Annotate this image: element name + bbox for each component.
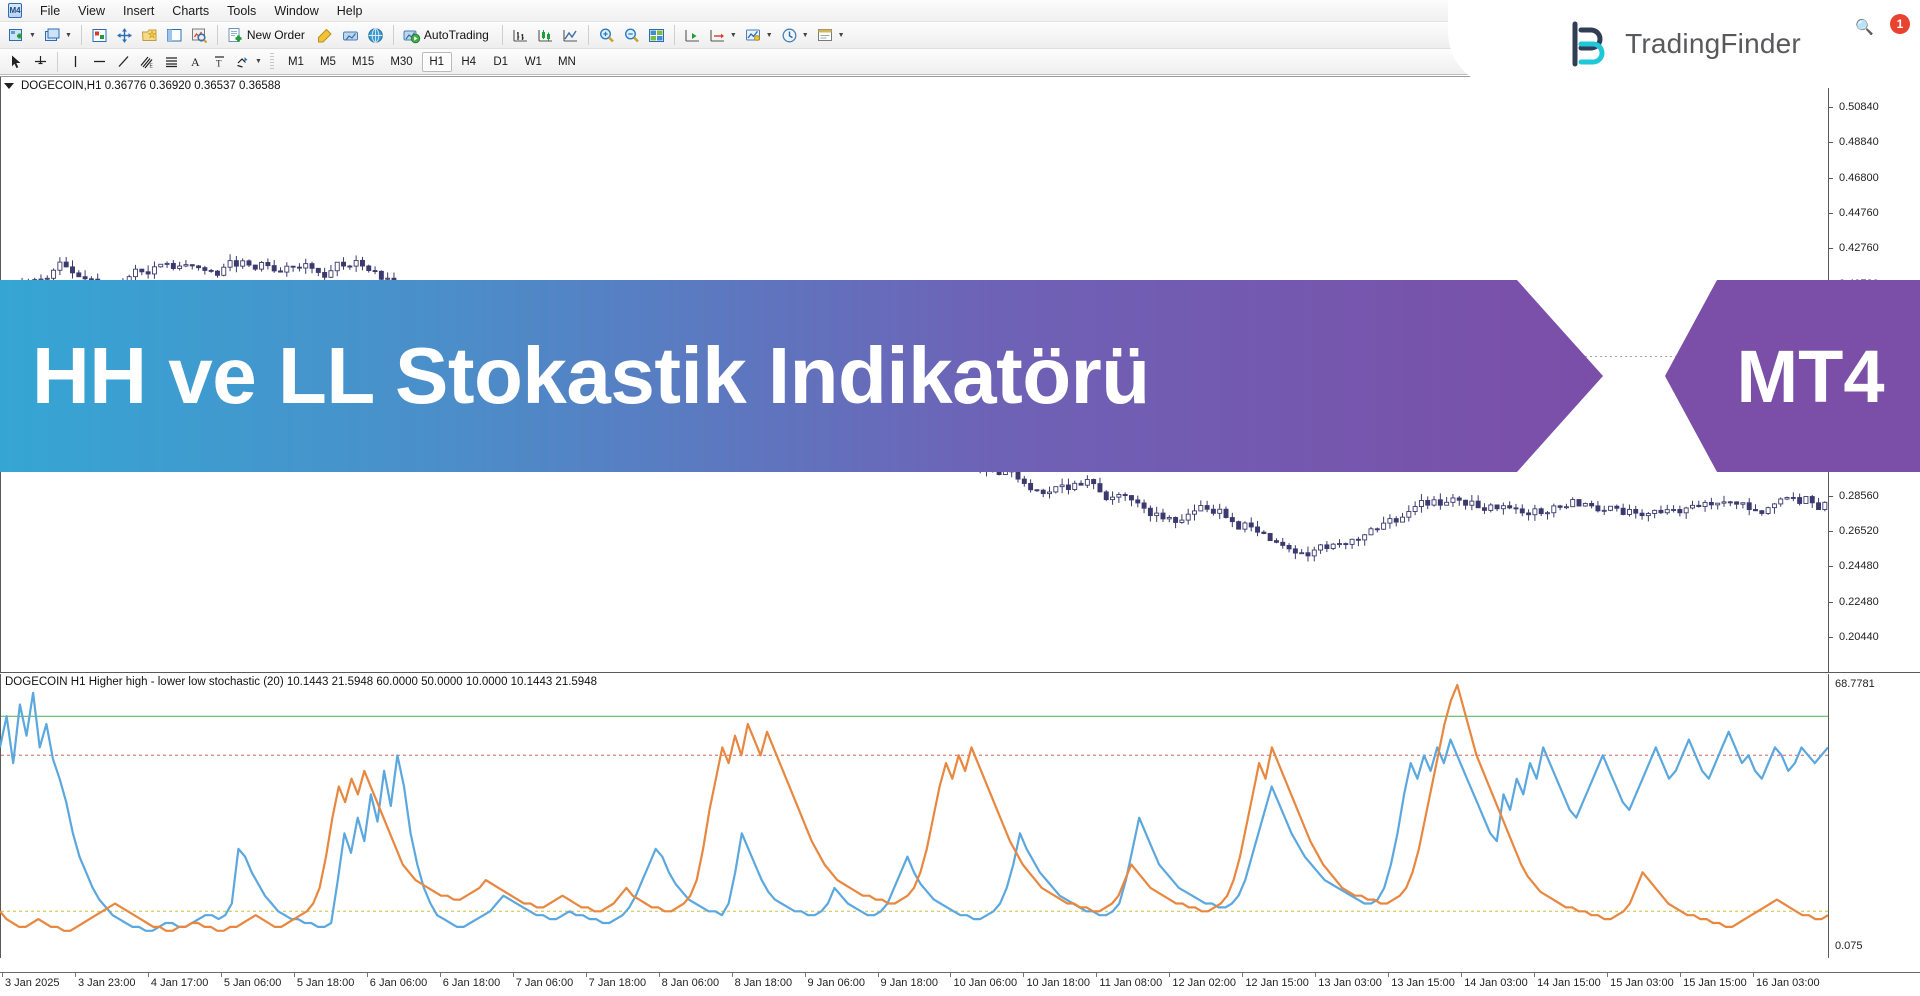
candle-body: [1186, 514, 1190, 520]
time-axis-label: 16 Jan 03:00: [1756, 977, 1820, 989]
brand-name-text: TradingFinder: [1625, 28, 1801, 60]
candle-body: [241, 261, 245, 266]
candle-body: [1041, 490, 1045, 493]
candle-body: [1281, 542, 1285, 545]
candle-body: [247, 261, 251, 265]
candle-body: [1331, 544, 1335, 548]
candle-body: [1117, 494, 1121, 497]
candle-body: [1772, 504, 1776, 508]
candle-body: [1211, 509, 1215, 513]
candle-body: [1167, 517, 1171, 518]
candle-body: [1621, 508, 1625, 514]
candle-body: [1571, 500, 1575, 507]
candle-body: [1092, 479, 1096, 483]
candle-body: [64, 262, 68, 267]
candle-body: [1798, 498, 1802, 504]
time-axis-tick: [1315, 973, 1316, 977]
candle-body: [1735, 502, 1739, 504]
indicator-axis[interactable]: 68.77810.075: [1828, 674, 1920, 958]
candle-body: [1747, 503, 1751, 510]
timeframe-h4[interactable]: H4: [454, 52, 484, 72]
candle-body: [1016, 472, 1020, 479]
candle-body: [1230, 518, 1234, 522]
candle-body: [1716, 503, 1720, 505]
mql5-community-button[interactable]: [363, 24, 388, 47]
time-axis-label: 8 Jan 18:00: [735, 977, 793, 989]
candle-body: [1489, 505, 1493, 510]
candle-body: [310, 264, 314, 269]
axis-tick: [1829, 602, 1833, 603]
axis-tick: [1829, 566, 1833, 567]
candle-body: [348, 266, 352, 267]
candle-body: [297, 267, 301, 268]
candle-body: [209, 270, 213, 271]
candle-body: [1760, 511, 1764, 514]
candle-body: [52, 270, 56, 278]
candle-body: [1325, 545, 1329, 549]
time-axis-label: 7 Jan 06:00: [516, 977, 574, 989]
new-chart-button[interactable]: ▼: [4, 24, 40, 47]
candle-body: [1048, 492, 1052, 494]
toolbar-separator: [217, 25, 218, 45]
candle-body: [379, 271, 383, 279]
chart-shift-button[interactable]: ▼: [705, 24, 741, 47]
candle-body: [1199, 506, 1203, 511]
candle-body: [1394, 519, 1398, 522]
candle-body: [1205, 506, 1209, 510]
time-axis-label: 13 Jan 03:00: [1318, 977, 1382, 989]
toolbar-separator: [674, 25, 675, 45]
templates-button[interactable]: ▼: [813, 24, 849, 47]
candle-body: [1268, 533, 1272, 540]
profiles-button[interactable]: ▼: [40, 24, 76, 47]
candle-body: [77, 273, 81, 277]
chevron-down-icon: ▼: [29, 32, 36, 39]
time-axis-tick: [1534, 973, 1535, 977]
candle-body: [228, 261, 232, 268]
candle-body: [178, 266, 182, 269]
time-axis-tick: [805, 973, 806, 977]
menu-insert[interactable]: Insert: [114, 1, 163, 21]
candle-body: [1590, 503, 1594, 505]
candle-body: [146, 272, 150, 274]
candle-body: [1665, 510, 1669, 513]
data-window-button[interactable]: [112, 24, 137, 47]
candle-body: [1817, 503, 1821, 510]
candle-body: [1142, 503, 1146, 508]
lower-low-line: [0, 685, 1828, 931]
time-axis-label: 15 Jan 03:00: [1610, 977, 1674, 989]
candle-body: [1432, 500, 1436, 505]
time-axis-tick: [878, 973, 879, 977]
indicator-axis-label: 0.075: [1835, 940, 1863, 952]
price-axis-label: 0.28560: [1839, 490, 1879, 502]
candle-body: [1224, 509, 1228, 517]
metaeditor-button[interactable]: [313, 24, 338, 47]
chevron-down-icon: ▼: [766, 32, 773, 39]
chevron-down-icon: ▼: [838, 32, 845, 39]
time-axis-tick: [1753, 973, 1754, 977]
candle-body: [1791, 497, 1795, 498]
indicator-axis-label: 68.7781: [1835, 678, 1875, 690]
candle-body: [140, 269, 144, 272]
svg-text:T: T: [216, 59, 222, 69]
candle-body: [89, 279, 93, 280]
candle-body: [197, 266, 201, 268]
timeframe-m5[interactable]: M5: [313, 52, 343, 72]
time-axis-label: 9 Jan 06:00: [808, 977, 866, 989]
time-axis-tick: [1023, 973, 1024, 977]
candle-body: [171, 263, 175, 268]
candle-body: [266, 262, 270, 265]
timeframe-m30[interactable]: M30: [383, 52, 419, 72]
candle-body: [1482, 508, 1486, 511]
strategy-tester-button[interactable]: [187, 24, 212, 47]
overlay-title-banner: HH ve LL Stokastik Indikatörü: [0, 280, 1603, 472]
candle-body: [1697, 505, 1701, 506]
toolbar-grip[interactable]: [270, 53, 274, 71]
candle-body: [215, 271, 219, 275]
time-axis-label: 12 Jan 15:00: [1245, 977, 1309, 989]
time-axis-label: 5 Jan 18:00: [297, 977, 355, 989]
candle-body: [1640, 513, 1644, 515]
bar-chart-button[interactable]: [508, 24, 533, 47]
candle-body: [367, 266, 371, 271]
candle-body: [1079, 483, 1083, 485]
menu-window[interactable]: Window: [265, 1, 327, 21]
price-axis-label: 0.24480: [1839, 560, 1879, 572]
menu-help[interactable]: Help: [328, 1, 372, 21]
candle-body: [1470, 501, 1474, 505]
candle-body: [1646, 514, 1650, 516]
candle-body: [1564, 507, 1568, 508]
candle-body: [1237, 522, 1241, 530]
mt4-app-icon: M4: [5, 2, 27, 20]
candle-body: [1300, 553, 1304, 554]
candle-body: [1382, 523, 1386, 529]
toolbar-separator: [588, 25, 589, 45]
price-axis-label: 0.46800: [1839, 172, 1879, 184]
candle-body: [1476, 501, 1480, 508]
candle-body: [1293, 549, 1297, 553]
candle-body: [329, 271, 333, 278]
tile-windows-button[interactable]: [644, 24, 669, 47]
time-axis-tick: [1607, 973, 1608, 977]
candle-body: [1161, 513, 1165, 519]
market-watch-button[interactable]: [87, 24, 112, 47]
candle-body: [1533, 509, 1537, 515]
candle-body: [1634, 509, 1638, 513]
fibonacci-retracement-tool[interactable]: [159, 50, 183, 73]
candle-body: [1703, 502, 1707, 506]
time-axis-tick: [732, 973, 733, 977]
candle-body: [1375, 529, 1379, 530]
stochastic-lines-plot: [0, 674, 1828, 958]
candle-body: [1583, 503, 1587, 506]
indicator-pane[interactable]: DOGECOIN H1 Higher high - lower low stoc…: [0, 674, 1920, 958]
candle-body: [1609, 506, 1613, 510]
time-axis-tick: [1169, 973, 1170, 977]
time-axis-tick: [1388, 973, 1389, 977]
candle-body: [1659, 510, 1663, 512]
candle-body: [1552, 506, 1556, 513]
tradingfinder-logo-icon: [1567, 20, 1613, 68]
candle-body: [1180, 520, 1184, 522]
candle-body: [1514, 508, 1518, 509]
timeframe-mn[interactable]: MN: [551, 52, 583, 72]
chevron-down-icon: ▼: [802, 32, 809, 39]
candle-body: [1445, 502, 1449, 505]
time-axis-label: 6 Jan 18:00: [443, 977, 501, 989]
candle-body: [1722, 502, 1726, 503]
toolbar-separator: [393, 25, 394, 45]
menu-charts[interactable]: Charts: [163, 1, 218, 21]
candle-body: [1306, 553, 1310, 556]
horizontal-line-tool[interactable]: [87, 50, 111, 73]
candle-body: [1111, 497, 1115, 499]
candle-body: [1369, 529, 1373, 535]
candle-body: [1539, 509, 1543, 514]
candle-body: [253, 265, 257, 269]
overlay-badge-banner: MT4: [1665, 280, 1920, 472]
crosshair-tool[interactable]: [28, 50, 52, 73]
time-axis-label: 8 Jan 06:00: [662, 977, 720, 989]
candle-body: [1174, 517, 1178, 522]
zoom-in-button[interactable]: [594, 24, 619, 47]
time-axis-label: 9 Jan 18:00: [881, 977, 939, 989]
candle-body: [1508, 506, 1512, 508]
menu-file[interactable]: File: [31, 1, 69, 21]
candle-body: [1728, 502, 1732, 503]
candle-body: [1785, 497, 1789, 499]
candle-body: [83, 277, 87, 279]
toolbar-separator: [81, 25, 82, 45]
time-axis-tick: [367, 973, 368, 977]
candle-body: [1287, 545, 1291, 548]
overlay-title-text: HH ve LL Stokastik Indikatörü: [32, 330, 1150, 422]
timeframe-w1[interactable]: W1: [518, 52, 549, 72]
time-axis-label: 7 Jan 18:00: [589, 977, 647, 989]
candlestick-chart-button[interactable]: [533, 24, 558, 47]
chevron-down-icon: ▼: [65, 32, 72, 39]
timeframe-m15[interactable]: M15: [345, 52, 381, 72]
time-axis-label: 14 Jan 03:00: [1464, 977, 1528, 989]
menu-tools[interactable]: Tools: [218, 1, 265, 21]
candle-body: [1413, 507, 1417, 512]
toolbar-separator: [57, 52, 58, 72]
navigator-button[interactable]: [137, 24, 162, 47]
candle-body: [1823, 502, 1827, 509]
candle-body: [1558, 506, 1562, 507]
candle-body: [1054, 487, 1058, 492]
candle-body: [1653, 510, 1657, 513]
candle-body: [354, 260, 358, 266]
candle-body: [1148, 508, 1152, 515]
candle-body: [316, 268, 320, 272]
time-axis-tick: [440, 973, 441, 977]
candle-body: [1085, 479, 1089, 485]
notification-badge[interactable]: 1: [1890, 14, 1910, 34]
time-axis[interactable]: 3 Jan 20253 Jan 23:004 Jan 17:005 Jan 06…: [0, 972, 1920, 996]
candle-body: [1249, 523, 1253, 527]
candle-body: [342, 262, 346, 266]
candle-body: [1029, 483, 1033, 489]
candle-body: [39, 279, 43, 280]
candle-body: [1218, 509, 1222, 513]
candle-body: [1690, 505, 1694, 508]
candle-body: [323, 272, 327, 277]
time-axis-label: 11 Jan 08:00: [1099, 977, 1162, 989]
text-tool[interactable]: A: [183, 50, 207, 73]
candle-body: [1060, 485, 1064, 487]
price-axis-label: 0.42760: [1839, 242, 1879, 254]
periods-button[interactable]: ▼: [777, 24, 813, 47]
timeframe-h1[interactable]: H1: [422, 52, 452, 72]
chevron-down-icon: ▼: [255, 58, 262, 65]
new-order-button[interactable]: New Order: [223, 24, 313, 47]
time-axis-tick: [1461, 973, 1462, 977]
shapes-tool[interactable]: ▼: [231, 50, 266, 73]
search-icon[interactable]: 🔍: [1855, 18, 1874, 36]
candle-body: [1545, 513, 1549, 514]
timeframe-m1[interactable]: M1: [281, 52, 311, 72]
candle-body: [1256, 527, 1260, 532]
time-axis-tick: [950, 973, 951, 977]
time-axis-label: 12 Jan 02:00: [1172, 977, 1236, 989]
cursor-arrow-tool[interactable]: [4, 50, 28, 73]
vertical-line-tool[interactable]: [63, 50, 87, 73]
candle-body: [1363, 535, 1367, 540]
candle-body: [1262, 532, 1266, 533]
candle-body: [1810, 497, 1814, 503]
axis-tick: [1829, 637, 1833, 638]
candle-body: [1451, 498, 1455, 502]
candle-body: [1678, 509, 1682, 512]
zoom-out-button[interactable]: [619, 24, 644, 47]
candle-body: [1407, 511, 1411, 517]
candle-body: [222, 267, 226, 275]
candle-body: [1520, 509, 1524, 513]
time-axis-label: 15 Jan 15:00: [1683, 977, 1747, 989]
candle-body: [285, 266, 289, 272]
candle-body: [1035, 490, 1039, 491]
candle-body: [1627, 509, 1631, 514]
candle-body: [1602, 510, 1606, 511]
terminal-button[interactable]: [162, 24, 187, 47]
candle-body: [1577, 500, 1581, 506]
equidistant-channel-tool[interactable]: E: [135, 50, 159, 73]
candle-body: [1438, 500, 1442, 505]
chart-area[interactable]: DOGECOIN,H1 0.36776 0.36920 0.36537 0.36…: [0, 76, 1920, 972]
new-order-label: New Order: [247, 28, 305, 42]
candle-body: [1501, 506, 1505, 509]
candle-body: [184, 265, 188, 266]
price-axis-label: 0.26520: [1839, 525, 1879, 537]
candle-body: [1741, 503, 1745, 504]
text-label-tool[interactable]: T: [207, 50, 231, 73]
candle-body: [234, 261, 238, 267]
candle-body: [1312, 550, 1316, 556]
indicators-button[interactable]: ▼: [741, 24, 777, 47]
candle-body: [190, 265, 194, 266]
candle-body: [70, 267, 74, 273]
candle-body: [1709, 502, 1713, 504]
chevron-down-icon: ▼: [730, 32, 737, 39]
candle-body: [1123, 494, 1127, 495]
price-axis-label: 0.50840: [1839, 101, 1879, 113]
candle-body: [1804, 497, 1808, 504]
candle-body: [1753, 510, 1757, 511]
auto-scroll-button[interactable]: [680, 24, 705, 47]
candle-body: [1356, 539, 1360, 540]
autotrading-button[interactable]: AutoTrading: [399, 24, 497, 47]
axis-tick: [1829, 178, 1833, 179]
candle-body: [1388, 519, 1392, 524]
price-axis-label: 0.48840: [1839, 136, 1879, 148]
candle-body: [152, 267, 156, 274]
tradingfinder-brand: TradingFinder: [1448, 0, 1920, 88]
time-axis-label: 3 Jan 23:00: [78, 977, 136, 989]
candle-body: [1192, 511, 1196, 514]
axis-tick: [1829, 496, 1833, 497]
candle-body: [304, 264, 308, 268]
candle-body: [1022, 479, 1026, 483]
candle-body: [1098, 484, 1102, 492]
candle-body: [1401, 517, 1405, 522]
timeframe-d1[interactable]: D1: [486, 52, 516, 72]
candle-body: [260, 262, 264, 269]
candle-body: [1615, 506, 1619, 508]
candle-body: [134, 269, 138, 277]
candle-body: [1464, 500, 1468, 505]
candle-body: [1129, 496, 1133, 500]
candle-body: [335, 262, 339, 271]
overlay-badge-text: MT4: [1701, 334, 1885, 419]
time-axis-tick: [2, 973, 3, 977]
candle-body: [1344, 544, 1348, 545]
time-axis-label: 5 Jan 06:00: [224, 977, 282, 989]
expert-advisors-button[interactable]: [338, 24, 363, 47]
candle-body: [1350, 539, 1354, 544]
candle-body: [1136, 500, 1140, 503]
line-chart-button[interactable]: [558, 24, 583, 47]
time-axis-tick: [1680, 973, 1681, 977]
time-axis-label: 14 Jan 15:00: [1537, 977, 1601, 989]
time-axis-label: 10 Jan 18:00: [1026, 977, 1090, 989]
time-axis-tick: [294, 973, 295, 977]
svg-text:E: E: [150, 64, 154, 70]
time-axis-label: 4 Jan 17:00: [151, 977, 209, 989]
candle-body: [1104, 492, 1108, 500]
time-axis-tick: [659, 973, 660, 977]
menu-view[interactable]: View: [69, 1, 114, 21]
time-axis-label: 10 Jan 06:00: [953, 977, 1017, 989]
candle-body: [1319, 545, 1323, 550]
axis-tick: [1829, 213, 1833, 214]
candle-body: [373, 271, 377, 272]
candle-body: [1073, 483, 1077, 489]
candle-body: [45, 278, 49, 279]
candle-body: [1066, 485, 1070, 490]
candle-body: [1457, 498, 1461, 500]
toolbar-separator: [502, 25, 503, 45]
candle-body: [1426, 500, 1430, 505]
autotrading-label: AutoTrading: [424, 28, 489, 42]
candle-body: [165, 263, 169, 264]
time-axis-tick: [1096, 973, 1097, 977]
trendline-tool[interactable]: [111, 50, 135, 73]
candle-body: [1684, 508, 1688, 513]
